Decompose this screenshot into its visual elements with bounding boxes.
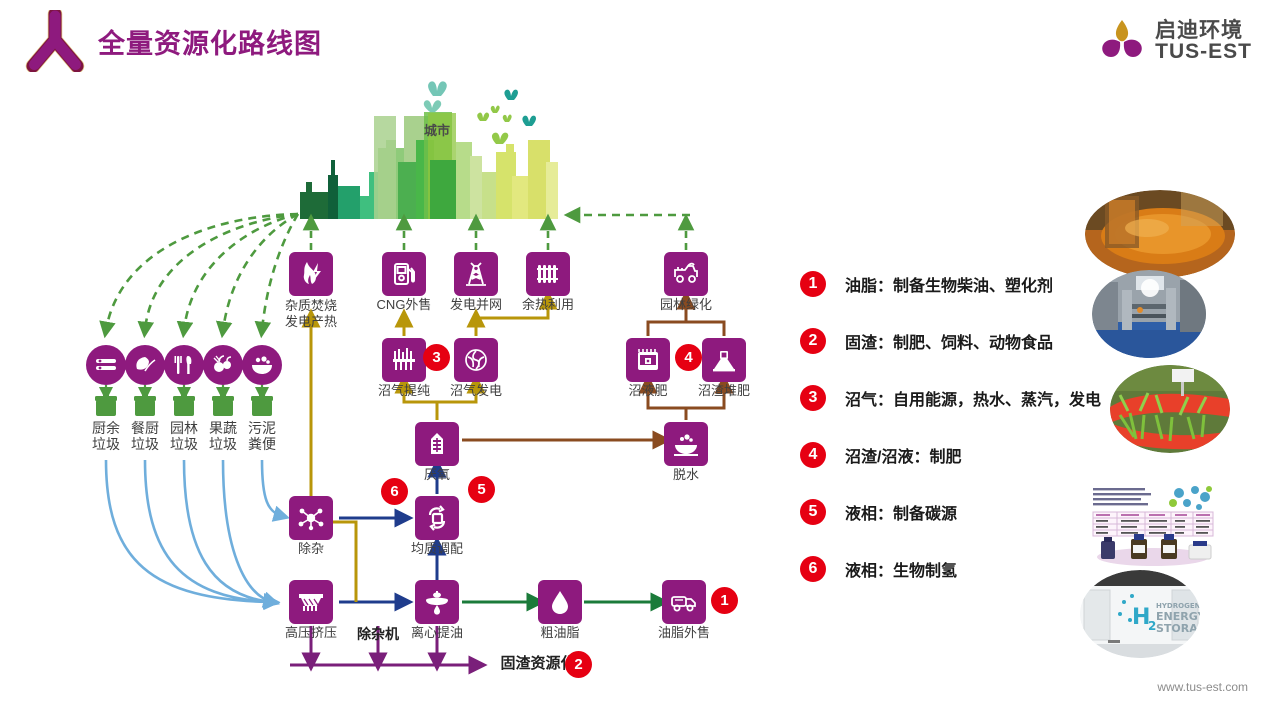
node-dewatering[interactable]	[664, 422, 708, 466]
legend-text-6: 液相：生物制氢	[845, 557, 957, 581]
source-to-bin-arrows	[106, 385, 262, 394]
node-label-centrifugal-oil: 离心提油	[403, 626, 471, 641]
node-label-homogenization: 均质调配	[402, 542, 472, 557]
node-label-landscaping: 园林绿化	[654, 298, 718, 313]
diagram-badge-4: 4	[676, 345, 701, 370]
plant-interior-photo	[1092, 270, 1207, 358]
collection-flows	[106, 460, 282, 602]
compost-icon	[702, 338, 746, 382]
node-anaerobic[interactable]	[415, 422, 459, 466]
node-homogenization[interactable]	[415, 496, 459, 540]
hydrogen-storage-photo: H 2 HYDROGEN ENERGY STORAGE	[1080, 570, 1200, 658]
svg-text:STORAGE: STORAGE	[1156, 622, 1200, 635]
legend-item-4: 4 沼渣/沼液：制肥	[800, 426, 1130, 483]
node-label-oil-sale: 油脂外售	[652, 626, 716, 641]
node-impurity-removal[interactable]	[289, 496, 333, 540]
source-label-4: 污泥 粪便	[232, 420, 292, 452]
legend-list: 1 油脂：制备生物柴油、塑化剂 2 固渣：制肥、饲料、动物食品 3 沼气：自用能…	[800, 255, 1130, 597]
source-item-2[interactable]	[164, 345, 204, 385]
legend-text-5: 液相：制备碳源	[845, 500, 957, 524]
output-to-city-flows	[311, 222, 686, 250]
sludge-waste-icon	[242, 345, 282, 385]
source-item-4[interactable]	[242, 345, 282, 385]
biogas-power-icon	[454, 338, 498, 382]
food-waste-icon	[125, 345, 165, 385]
node-compost[interactable]	[702, 338, 746, 382]
node-label-cng: CNG外售	[372, 298, 436, 313]
crude-oil-icon	[538, 580, 582, 624]
incineration-icon	[289, 252, 333, 296]
biogas-purification-icon	[382, 338, 426, 382]
lab-report-photo	[1087, 485, 1219, 567]
svg-text:HYDROGEN: HYDROGEN	[1156, 602, 1200, 610]
source-item-1[interactable]	[125, 345, 165, 385]
node-label-impurity-removal: 除杂	[279, 542, 343, 557]
landscaping-truck-icon	[664, 252, 708, 296]
kitchen-waste-icon	[86, 345, 126, 385]
source-item-0[interactable]	[86, 345, 126, 385]
legend-badge-6: 6	[800, 556, 826, 582]
source-item-3[interactable]	[203, 345, 243, 385]
city-skyline-graphic	[300, 81, 558, 219]
node-label-incineration: 杂质焚烧 发电产热	[275, 298, 347, 329]
node-label-power-grid: 发电并网	[444, 298, 508, 313]
centrifugal-oil-icon	[415, 580, 459, 624]
diagram-badge-6: 6	[382, 479, 407, 504]
legend-badge-5: 5	[800, 499, 826, 525]
impurity-removal-icon	[289, 496, 333, 540]
node-label-biogas-purification: 沼气提纯	[372, 384, 436, 399]
node-label-impurity-machine: 除杂机	[346, 626, 410, 642]
high-pressure-press-icon	[289, 580, 333, 624]
node-label-liquid-fertilizer: 沼液肥	[616, 384, 680, 399]
node-label-dewatering: 脱水	[654, 468, 718, 483]
legend-item-2: 2 固渣：制肥、饲料、动物食品	[800, 312, 1130, 369]
planting-bed-photo	[1110, 365, 1230, 453]
anaerobic-digester-icon	[415, 422, 459, 466]
homogenization-icon	[415, 496, 459, 540]
node-incineration[interactable]	[289, 252, 333, 296]
power-grid-icon	[454, 252, 498, 296]
footer-url: www.tus-est.com	[1157, 680, 1248, 694]
city-label: 城市	[424, 120, 450, 139]
legend-item-3: 3 沼气：自用能源，热水、蒸汽，发电	[800, 369, 1130, 426]
node-label-high-pressure-press: 高压挤压	[277, 626, 345, 641]
digestate-flows	[462, 300, 724, 440]
node-label-compost: 沼渣堆肥	[692, 384, 756, 399]
node-biogas-power[interactable]	[454, 338, 498, 382]
node-label-anaerobic: 厌氧	[405, 468, 469, 483]
node-cng[interactable]	[382, 252, 426, 296]
dewatering-icon	[664, 422, 708, 466]
legend-text-2: 固渣：制肥、饲料、动物食品	[845, 329, 1053, 353]
node-centrifugal-oil[interactable]	[415, 580, 459, 624]
legend-item-6: 6 液相：生物制氢	[800, 540, 1130, 597]
diagram-badge-2: 2	[566, 652, 591, 677]
node-high-pressure-press[interactable]	[289, 580, 333, 624]
node-biogas-purification[interactable]	[382, 338, 426, 382]
diagram-badge-3: 3	[424, 345, 449, 370]
node-label-waste-heat: 余热利用	[516, 298, 580, 313]
oil-sale-truck-icon	[662, 580, 706, 624]
legend-badge-3: 3	[800, 385, 826, 411]
legend-text-4: 沼渣/沼液：制肥	[845, 443, 961, 467]
legend-badge-2: 2	[800, 328, 826, 354]
legend-item-1: 1 油脂：制备生物柴油、塑化剂	[800, 255, 1130, 312]
node-power-grid[interactable]	[454, 252, 498, 296]
liquid-fertilizer-icon	[626, 338, 670, 382]
legend-item-5: 5 液相：制备碳源	[800, 483, 1130, 540]
fruit-vegetable-waste-icon	[203, 345, 243, 385]
legend-text-3: 沼气：自用能源，热水、蒸汽，发电	[845, 386, 1101, 410]
legend-badge-4: 4	[800, 442, 826, 468]
legend-text-1: 油脂：制备生物柴油、塑化剂	[845, 272, 1053, 296]
diagram-badge-5: 5	[469, 477, 494, 502]
legend-badge-1: 1	[800, 271, 826, 297]
node-label-crude-oil: 粗油脂	[528, 626, 592, 641]
oil-sample-photo	[1085, 190, 1235, 278]
cng-pump-icon	[382, 252, 426, 296]
node-label-biogas-power: 沼气发电	[444, 384, 508, 399]
radiator-icon	[526, 252, 570, 296]
diagram-badge-1: 1	[712, 588, 737, 613]
node-oil-sale[interactable]	[662, 580, 706, 624]
node-crude-oil[interactable]	[538, 580, 582, 624]
node-landscaping[interactable]	[664, 252, 708, 296]
node-waste-heat[interactable]	[526, 252, 570, 296]
node-liquid-fertilizer[interactable]	[626, 338, 670, 382]
waste-bin-icons	[95, 393, 273, 416]
garden-waste-icon	[164, 345, 204, 385]
